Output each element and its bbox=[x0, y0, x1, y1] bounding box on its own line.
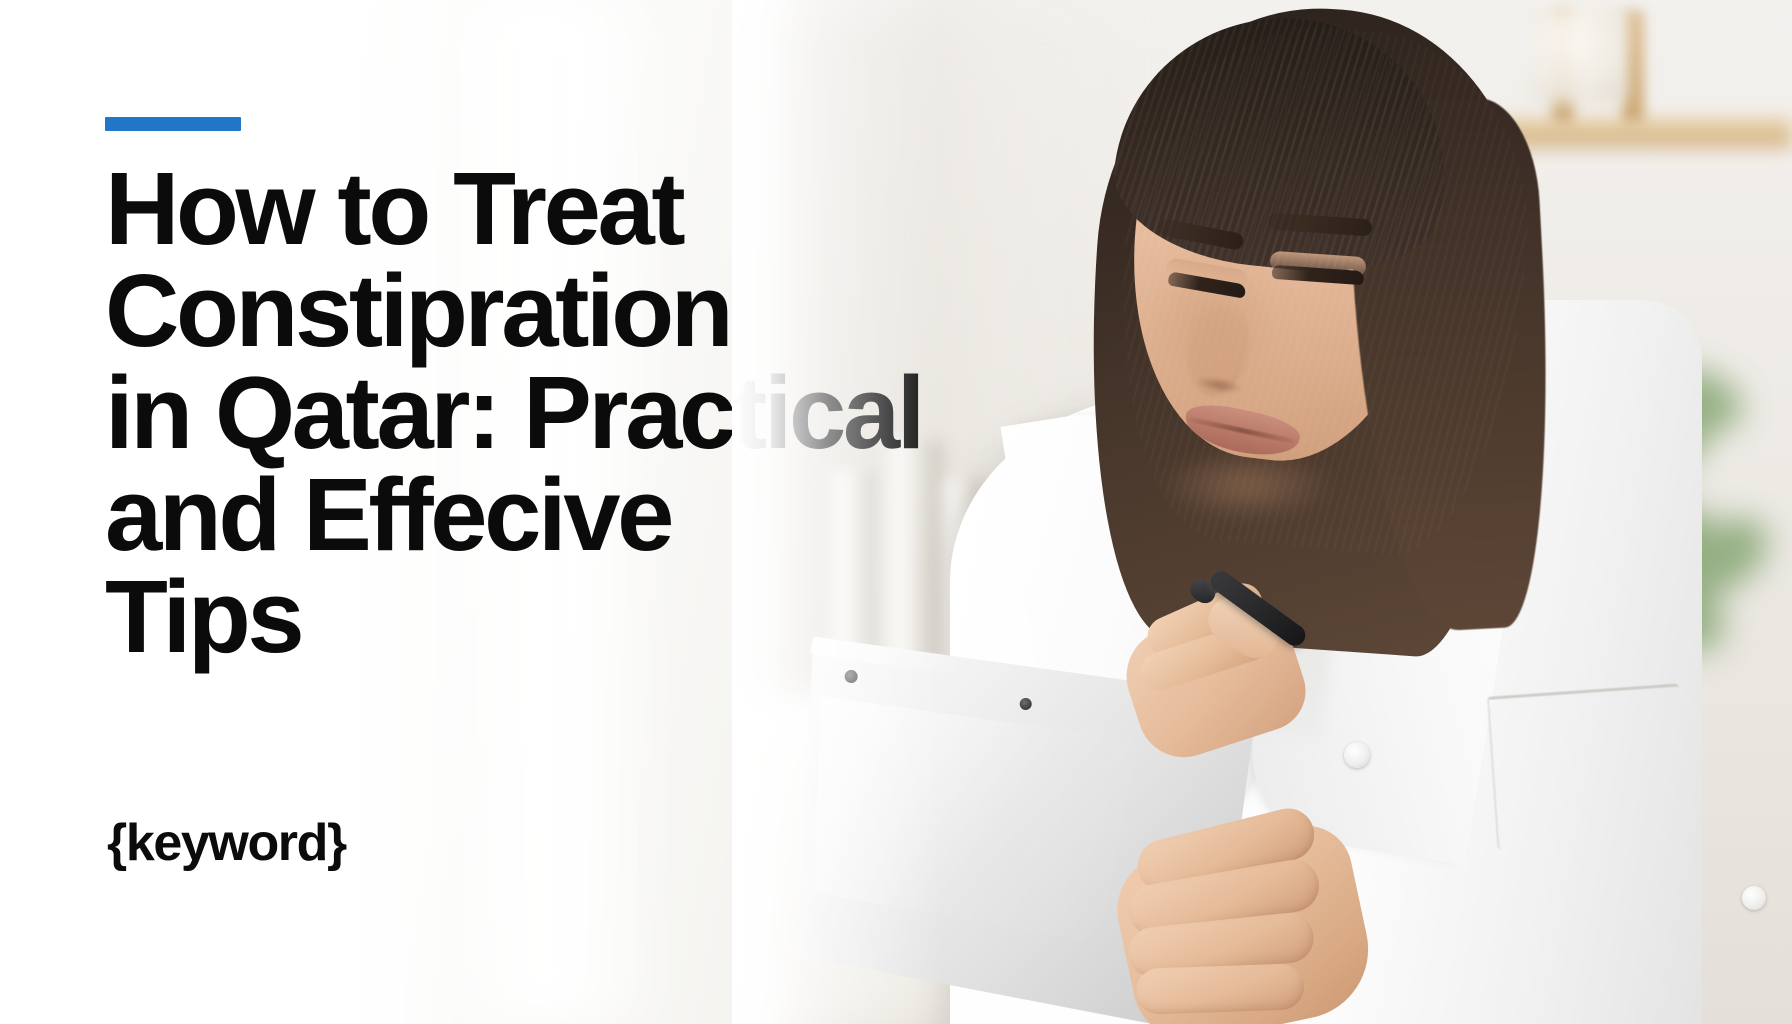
finger bbox=[1135, 963, 1305, 1015]
coat-button bbox=[1344, 742, 1370, 768]
banner-canvas: How to Treat Constipration in Qatar: Pra… bbox=[0, 0, 1792, 1024]
hero-photo bbox=[732, 0, 1792, 1024]
coat-pocket bbox=[1487, 683, 1689, 849]
coat-button bbox=[1742, 886, 1766, 910]
doctor-figure bbox=[732, 0, 1792, 1024]
keyword-placeholder: {keyword} bbox=[107, 813, 346, 873]
accent-bar bbox=[105, 117, 241, 131]
hand-lower bbox=[1084, 810, 1384, 1024]
head bbox=[972, 0, 1592, 600]
chin-shading bbox=[1162, 450, 1332, 520]
